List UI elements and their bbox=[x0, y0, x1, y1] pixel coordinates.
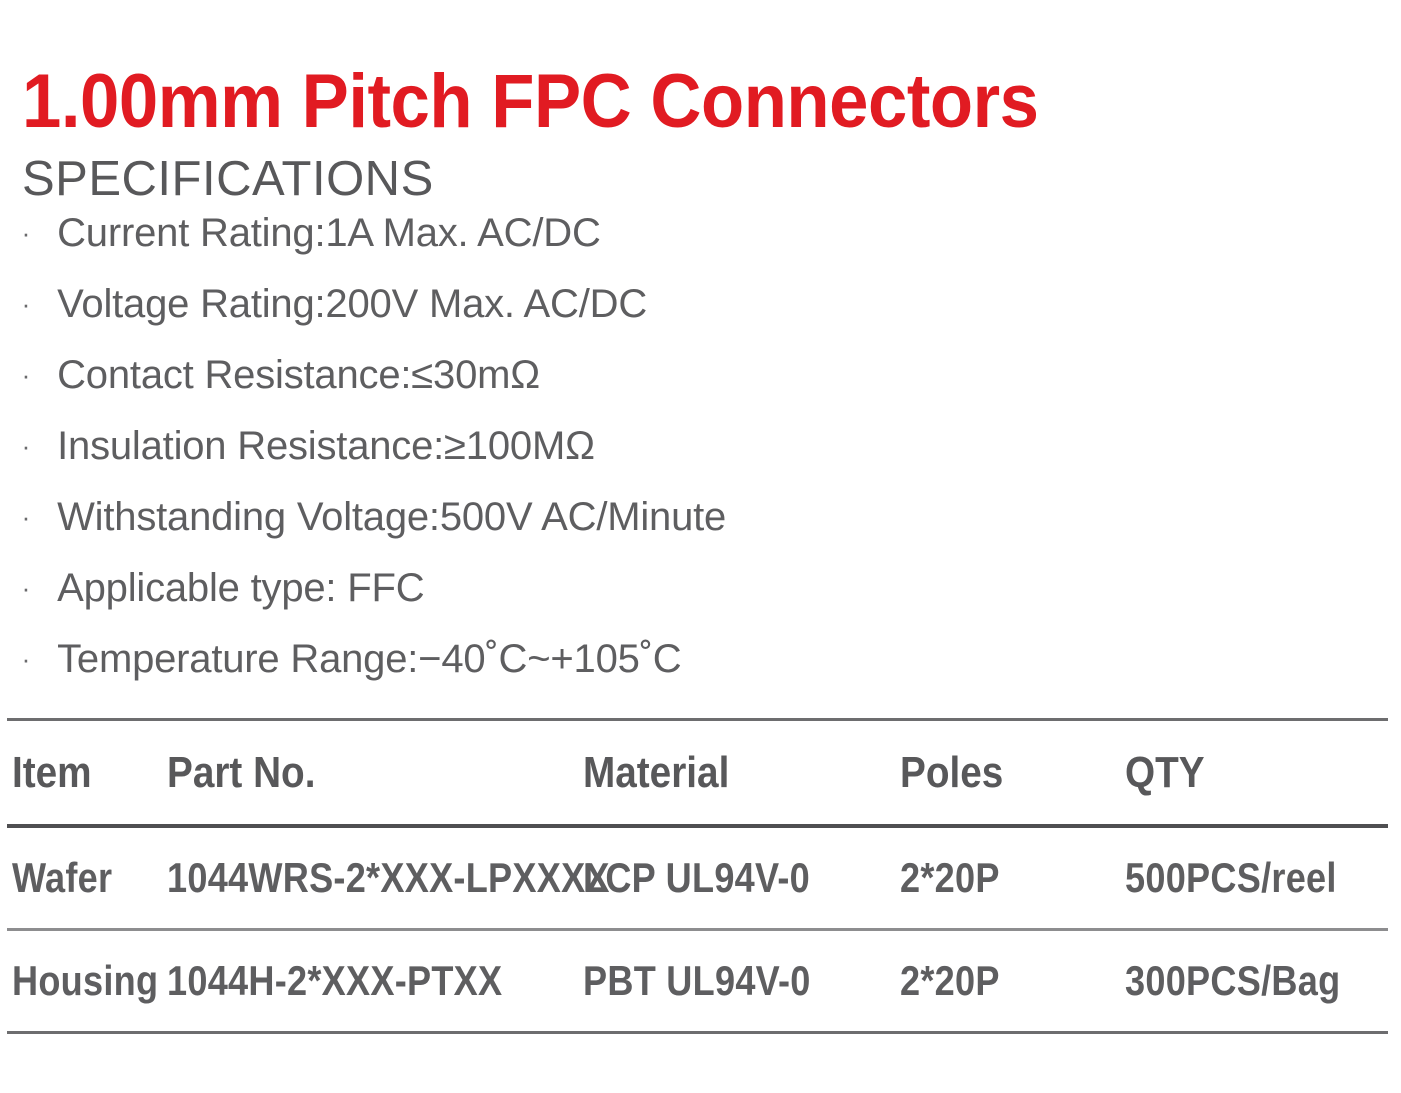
bullet-icon: · bbox=[6, 269, 46, 340]
table-row: Housing 1044H-2*XXX-PTXX PBT UL94V-0 2*2… bbox=[7, 931, 1388, 1031]
bullet-icon: · bbox=[6, 553, 46, 624]
list-item: · Insulation Resistance:≥100MΩ bbox=[0, 409, 1100, 480]
table-row: Wafer 1044WRS-2*XXX-LPXXXX LCP UL94V-0 2… bbox=[7, 828, 1388, 928]
cell-material: PBT UL94V-0 bbox=[583, 931, 811, 1031]
spec-text: Contact Resistance:≤30mΩ bbox=[57, 340, 540, 411]
spec-text: Temperature Range:−40˚C~+105˚C bbox=[57, 624, 681, 695]
column-header-part-no: Part No. bbox=[167, 721, 315, 824]
list-item: · Applicable type: FFC bbox=[0, 551, 1100, 622]
bullet-icon: · bbox=[6, 411, 46, 482]
column-header-qty: QTY bbox=[1125, 721, 1205, 824]
column-header-poles: Poles bbox=[900, 721, 1003, 824]
spec-text: Current Rating:1A Max. AC/DC bbox=[57, 198, 601, 269]
column-header-item: Item bbox=[12, 721, 92, 824]
spec-text: Withstanding Voltage:500V AC/Minute bbox=[57, 482, 726, 553]
parts-table: Item Part No. Material Poles QTY Wafer 1… bbox=[7, 718, 1388, 1034]
list-item: · Current Rating:1A Max. AC/DC bbox=[0, 196, 1100, 267]
list-item: · Temperature Range:−40˚C~+105˚C bbox=[0, 622, 1100, 693]
cell-item: Wafer bbox=[12, 828, 112, 928]
cell-poles: 2*20P bbox=[900, 931, 1000, 1031]
list-item: · Contact Resistance:≤30mΩ bbox=[0, 338, 1100, 409]
spec-text: Voltage Rating:200V Max. AC/DC bbox=[57, 269, 647, 340]
bullet-icon: · bbox=[6, 624, 46, 695]
bullet-icon: · bbox=[6, 340, 46, 411]
specifications-list: · Current Rating:1A Max. AC/DC · Voltage… bbox=[0, 196, 1100, 693]
column-header-material: Material bbox=[583, 721, 729, 824]
table-bottom-rule bbox=[7, 1031, 1388, 1034]
cell-item: Housing bbox=[12, 931, 158, 1031]
bullet-icon: · bbox=[6, 198, 46, 269]
bullet-icon: · bbox=[6, 482, 46, 553]
cell-material: LCP UL94V-0 bbox=[583, 828, 810, 928]
cell-part-no: 1044WRS-2*XXX-LPXXXX bbox=[167, 828, 610, 928]
cell-qty: 300PCS/Bag bbox=[1125, 931, 1340, 1031]
cell-poles: 2*20P bbox=[900, 828, 1000, 928]
spec-text: Applicable type: FFC bbox=[57, 553, 424, 624]
list-item: · Voltage Rating:200V Max. AC/DC bbox=[0, 267, 1100, 338]
cell-qty: 500PCS/reel bbox=[1125, 828, 1337, 928]
spec-text: Insulation Resistance:≥100MΩ bbox=[57, 411, 595, 482]
cell-part-no: 1044H-2*XXX-PTXX bbox=[167, 931, 502, 1031]
page-title: 1.00mm Pitch FPC Connectors bbox=[22, 59, 1038, 145]
list-item: · Withstanding Voltage:500V AC/Minute bbox=[0, 480, 1100, 551]
table-header-row: Item Part No. Material Poles QTY bbox=[7, 721, 1388, 824]
